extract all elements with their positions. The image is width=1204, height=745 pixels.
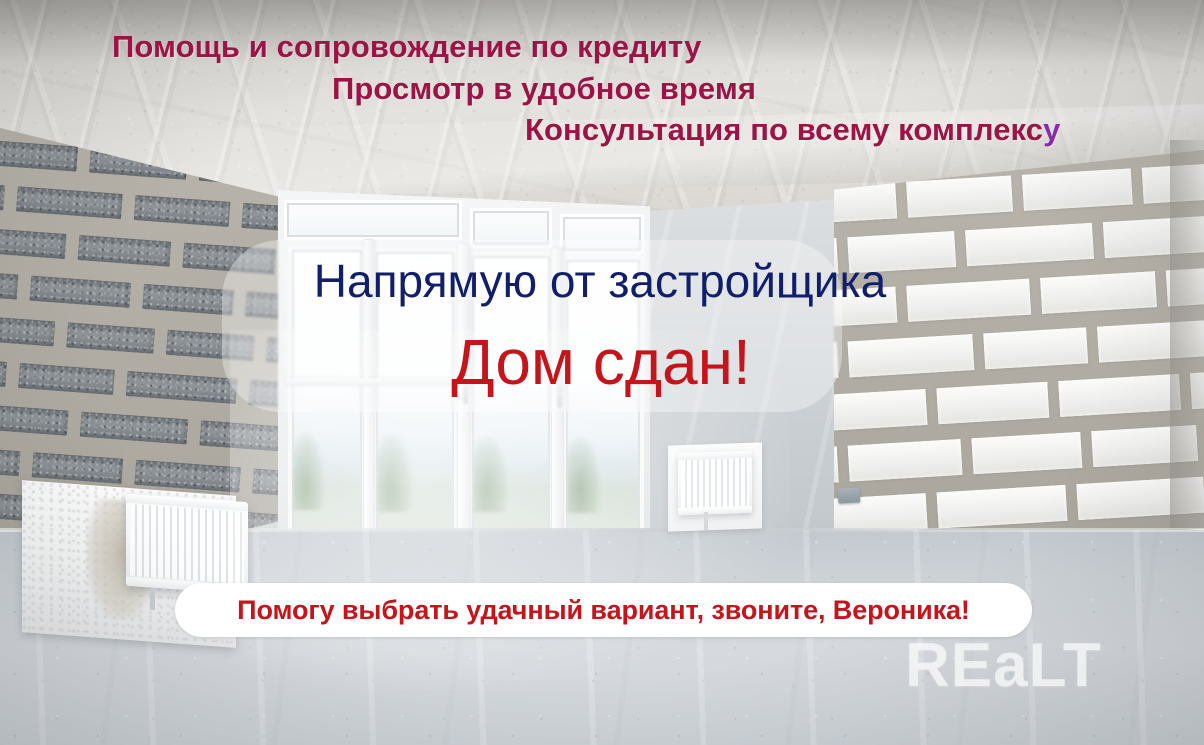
radiator-left [126,494,248,595]
electrical-outlet-box [838,487,861,503]
watermark-part-3: LT [1029,631,1102,700]
ceiling-text-line-1-label: Помощь и сопровождение по кредиту [112,29,701,64]
realt-watermark: REaLT [905,630,1102,701]
radiator-left-fins [130,504,244,584]
headline-primary: Напрямую от застройщика [0,258,1204,304]
watermark-part-1: RE [905,631,993,700]
window-transom-left [284,200,462,240]
ceiling-text-line-3-accent: у [1043,112,1060,147]
headline-primary-label: Напрямую от застройщика [314,255,886,307]
ceiling-text-block: Помощь и сопровождение по кредиту Просмо… [0,26,1204,151]
contact-banner-label: Помогу выбрать удачный вариант, звоните,… [237,595,970,626]
headline-secondary-label: Дом сдан! [451,326,751,398]
ceiling-text-line-1: Помощь и сопровождение по кредиту [112,26,1204,68]
radiator-right-fins [681,458,749,508]
radiator-left-leg [150,588,155,610]
watermark-part-2: a [993,631,1028,700]
ceiling-text-line-3-label: Консультация по всему комплекс [525,112,1043,147]
contact-banner: Помогу выбрать удачный вариант, звоните,… [175,583,1032,637]
ceiling-text-line-2-label: Просмотр в удобное время [332,71,756,106]
radiator-right [678,451,752,516]
ceiling-text-line-2: Просмотр в удобное время [332,68,1204,110]
advertisement-image: Помощь и сопровождение по кредиту Просмо… [0,0,1204,745]
headline-secondary: Дом сдан! [0,330,1204,394]
ceiling-text-line-3: Консультация по всему комплексу [525,109,1204,151]
radiator-right-leg [704,512,708,530]
